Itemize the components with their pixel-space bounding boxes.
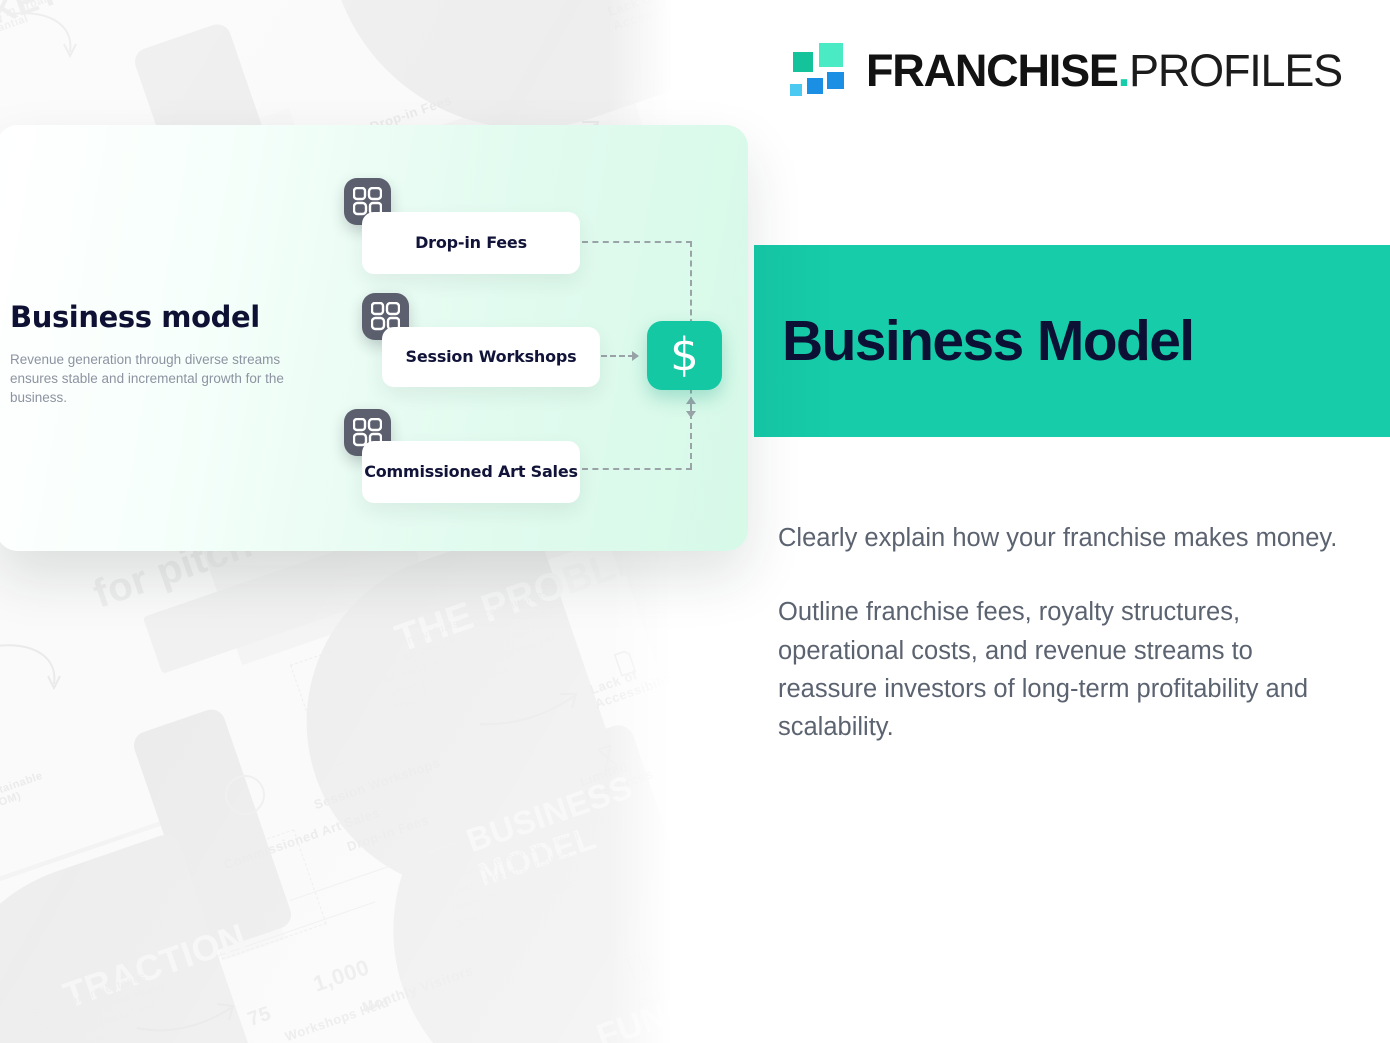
logo-square-mint <box>819 43 843 67</box>
section-title: Business Model <box>782 308 1194 374</box>
revenue-node-commissioned-art-sales[interactable]: Commissioned Art Sales <box>362 441 580 503</box>
logo-wordmark: FRANCHISE.PROFILES <box>866 48 1342 93</box>
revenue-hub-dollar-icon: $ <box>647 321 722 390</box>
logo-word-dot: . <box>1118 45 1129 96</box>
section-title-banner: Business Model <box>754 245 1390 437</box>
revenue-node-label: Commissioned Art Sales <box>364 462 578 481</box>
revenue-node-session-workshops[interactable]: Session Workshops <box>382 327 600 387</box>
logo-mark-icon <box>789 42 844 98</box>
slide-canvas: KET spaces in urban and is a substantial… <box>0 0 1390 1043</box>
revenue-node-label: Drop-in Fees <box>415 233 527 252</box>
revenue-node-drop-in-fees[interactable]: Drop-in Fees <box>362 212 580 274</box>
bg-circle-icon <box>642 902 676 936</box>
body-paragraph-1: Clearly explain how your franchise makes… <box>778 519 1354 557</box>
dollar-symbol: $ <box>670 332 699 377</box>
slide-subtitle: Revenue generation through diverse strea… <box>10 350 320 407</box>
logo-word-light: PROFILES <box>1129 45 1342 96</box>
section-body-copy: Clearly explain how your franchise makes… <box>778 519 1354 746</box>
logo-square-blue-mid <box>807 78 823 94</box>
bg-circle-icon <box>225 775 265 815</box>
slide-heading-group: Business model Revenue generation throug… <box>10 300 320 407</box>
logo-square-blue-large <box>827 72 844 89</box>
slide-title: Business model <box>10 300 320 334</box>
logo-square-cyan <box>790 84 802 96</box>
bg-arrow-icon <box>478 690 588 740</box>
logo-square-green <box>793 52 813 72</box>
slide-preview-card[interactable]: Business model Revenue generation throug… <box>0 125 748 551</box>
brand-logo[interactable]: FRANCHISE.PROFILES <box>789 42 1342 98</box>
bg-arrow-icon <box>0 640 72 700</box>
revenue-node-label: Session Workshops <box>406 347 577 366</box>
body-paragraph-2: Outline franchise fees, royalty structur… <box>778 593 1354 746</box>
logo-word-bold: FRANCHISE <box>866 45 1118 96</box>
